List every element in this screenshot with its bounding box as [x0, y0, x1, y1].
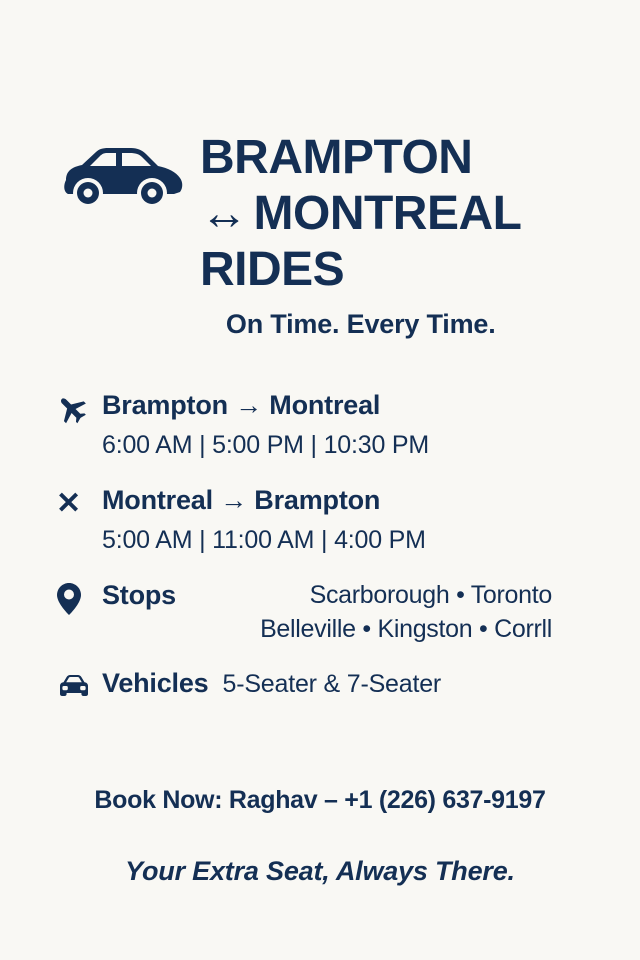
vehicles-label: Vehicles	[102, 666, 208, 700]
stops-line-2: Belleville • Kingston • Corrll	[192, 612, 552, 646]
title-line-3: RIDES	[200, 242, 521, 298]
title-line-2: ↔MONTREAL	[200, 186, 521, 242]
plane-arrival-icon: ✕	[56, 485, 102, 523]
vehicles-value: 5-Seater & 7-Seater	[222, 667, 441, 701]
bidirectional-arrow-icon: ↔	[200, 186, 248, 242]
schedule-row-inbound: ✕ Montreal → Brampton 5:00 AM | 11:00 AM…	[0, 483, 640, 556]
poster-header: BRAMPTON ↔MONTREAL RIDES On Time. Every …	[0, 128, 640, 340]
book-now-line[interactable]: Book Now: Raghav – +1 (226) 637-9197	[0, 786, 640, 815]
plane-arrival-glyph: ✕	[56, 489, 81, 519]
route-label-outbound: Brampton → Montreal	[102, 388, 640, 422]
vehicles-row: Vehicles 5-Seater & 7-Seater	[0, 666, 640, 706]
plane-departure-icon	[56, 390, 102, 428]
title-line-1: BRAMPTON	[200, 130, 521, 186]
title-block: BRAMPTON ↔MONTREAL RIDES On Time. Every …	[200, 128, 521, 340]
title-line-2-text: MONTREAL	[254, 187, 522, 240]
vehicles-inline: Vehicles 5-Seater & 7-Seater	[102, 666, 640, 701]
schedule-body-outbound: Brampton → Montreal 6:00 AM | 5:00 PM | …	[102, 388, 640, 461]
info-section: Brampton → Montreal 6:00 AM | 5:00 PM | …	[0, 388, 640, 706]
stops-label: Stops	[102, 578, 176, 612]
vehicles-body: Vehicles 5-Seater & 7-Seater	[102, 666, 640, 701]
stops-line-1: Scarborough • Toronto	[192, 578, 552, 612]
tagline: Your Extra Seat, Always There.	[0, 856, 640, 887]
schedule-body-inbound: Montreal → Brampton 5:00 AM | 11:00 AM |…	[102, 483, 640, 556]
route-label-inbound: Montreal → Brampton	[102, 483, 640, 517]
car-front-icon	[56, 668, 102, 706]
schedule-row-outbound: Brampton → Montreal 6:00 AM | 5:00 PM | …	[0, 388, 640, 461]
car-side-icon	[52, 138, 186, 216]
stops-row: Stops Scarborough • Toronto Belleville •…	[0, 578, 640, 646]
subtitle: On Time. Every Time.	[200, 308, 521, 340]
stops-inline: Stops Scarborough • Toronto Belleville •…	[102, 578, 640, 646]
poster-canvas: BRAMPTON ↔MONTREAL RIDES On Time. Every …	[0, 0, 640, 960]
route-times-outbound: 6:00 AM | 5:00 PM | 10:30 PM	[102, 429, 640, 461]
stops-values: Scarborough • Toronto Belleville • Kings…	[192, 578, 596, 646]
map-pin-icon	[56, 580, 102, 618]
route-times-inbound: 5:00 AM | 11:00 AM | 4:00 PM	[102, 524, 640, 556]
stops-body: Stops Scarborough • Toronto Belleville •…	[102, 578, 640, 646]
